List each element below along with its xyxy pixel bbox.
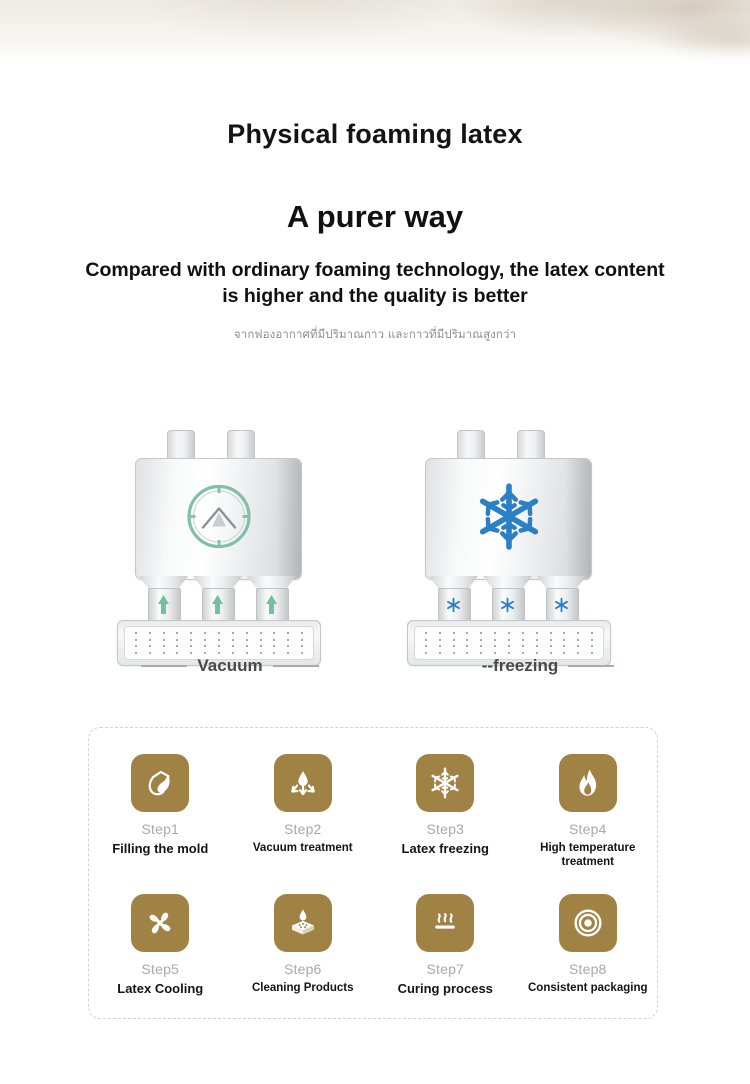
plate-hole [508,639,510,641]
plate-hole [287,632,289,634]
plate-hole [176,645,178,647]
machine-nozzle [537,576,586,624]
step-description-label: Cleaning Products [252,981,354,995]
plate-hole [260,639,262,641]
plate-hole [149,645,151,647]
plate-hole [439,639,441,641]
process-step-step8[interactable]: Step8Consistent packaging [517,894,660,997]
plate-hole [522,645,524,647]
plate-hole [273,632,275,634]
plate-hole [425,632,427,634]
description-block: Compared with ordinary foaming technolog… [0,258,750,309]
plate-hole [522,632,524,634]
step-description-label: High temperature treatment [528,841,648,869]
plate-hole [522,652,524,654]
perforated-plate [124,626,314,660]
plate-hole [190,652,192,654]
step-description-label: Latex Cooling [117,981,203,997]
plate-hole [204,632,206,634]
machine-body [425,458,592,580]
step-description-label: Vacuum treatment [253,841,353,855]
up-arrow-icon [149,589,178,621]
machine-nozzle [193,576,242,624]
plate-hole [439,645,441,647]
plate-hole [149,632,151,634]
plate-hole [218,645,220,647]
plate-hole [577,632,579,634]
plate-hole [260,645,262,647]
droplet-block-icon [286,906,320,940]
plate-hole [577,652,579,654]
plate-hole [536,645,538,647]
plate-hole [301,652,303,654]
nozzle-neck [438,588,471,624]
machine-body-shading [275,459,301,579]
plate-hole [425,652,427,654]
description-text: Compared with ordinary foaming technolog… [75,258,675,309]
plate-hole [246,652,248,654]
vacuum-droplet-icon [286,766,320,800]
plate-hole [218,652,220,654]
top-band-fade [0,46,750,80]
plate-hole [232,645,234,647]
plate-hole [563,645,565,647]
plate-hole [508,632,510,634]
plate-hole [163,645,165,647]
plate-hole [466,645,468,647]
plate-hole [287,652,289,654]
step-number-label: Step7 [426,961,464,977]
plate-hole [163,632,165,634]
perforated-plate [414,626,604,660]
nozzle-neck [546,588,579,624]
plate-hole [563,632,565,634]
step-icon-tile [274,754,332,812]
plate-hole [494,652,496,654]
plate-hole [232,652,234,654]
process-step-step3[interactable]: Step3Latex freezing [374,754,517,869]
plate-hole [246,645,248,647]
step-description-label: Consistent packaging [528,981,648,995]
plate-hole [577,645,579,647]
plate-hole [163,652,165,654]
machine-label-text: --freezing [482,656,559,676]
process-step-step5[interactable]: Step5Latex Cooling [89,894,232,997]
label-rule-left [141,665,187,667]
steps-row: Step1Filling the mold Step2Vacuum treatm… [89,754,659,869]
step-icon-tile [131,894,189,952]
plate-hole [246,632,248,634]
nozzle-neck [492,588,525,624]
up-arrow-icon [203,589,232,621]
plate-hole [260,652,262,654]
nozzle-neck [202,588,235,624]
plate-hole [135,639,137,641]
plate-hole [577,639,579,641]
plate-hole [508,645,510,647]
machine-nozzle [139,576,188,624]
step-icon-tile [416,894,474,952]
plate-hole [135,652,137,654]
plate-hole [466,652,468,654]
plate-hole [550,639,552,641]
nozzle-neck [148,588,181,624]
plate-hole [494,639,496,641]
plate-hole [273,652,275,654]
plate-hole [246,639,248,641]
plate-hole [466,632,468,634]
flame-icon [571,766,605,800]
concentric-circles-icon [571,906,605,940]
plate-hole [591,652,593,654]
plate-hole [190,639,192,641]
step-icon-tile [274,894,332,952]
machine-label-freezing: --freezing [395,656,645,676]
machine-illustration-vacuum: Vacuum [105,424,355,674]
plate-hole [536,639,538,641]
snowflake-icon [493,589,522,621]
plate-hole [204,639,206,641]
gauge-icon [182,480,256,559]
plate-hole [508,652,510,654]
page-subtitle: A purer way [0,198,750,235]
up-arrow-icon [257,589,286,621]
plate-hole [135,632,137,634]
plate-hole [536,632,538,634]
step-number-label: Step8 [569,961,607,977]
machine-nozzle-group [425,576,590,624]
plate-hole [536,652,538,654]
plate-hole [550,632,552,634]
heading-block: Physical foaming latex A purer way [0,118,750,236]
process-step-step7[interactable]: Step7Curing process [374,894,517,997]
fan-icon [143,906,177,940]
step-number-label: Step6 [284,961,322,977]
plate-hole [453,645,455,647]
page-title: Physical foaming latex [0,118,750,150]
process-step-step1[interactable]: Step1Filling the mold [89,754,232,869]
machine-label-text: Vacuum [197,656,262,676]
process-step-step2[interactable]: Step2Vacuum treatment [232,754,375,869]
plate-hole [190,632,192,634]
plate-hole [591,645,593,647]
machine-nozzle [483,576,532,624]
plate-hole [149,652,151,654]
plate-hole [522,639,524,641]
step-number-label: Step1 [141,821,179,837]
nozzle-neck [256,588,289,624]
plate-hole [260,632,262,634]
step-number-label: Step5 [141,961,179,977]
plate-hole [190,645,192,647]
step-description-label: Curing process [398,981,493,997]
plate-hole [453,632,455,634]
plate-hole [563,652,565,654]
plate-hole [563,639,565,641]
plate-hole [232,639,234,641]
step-description-label: Latex freezing [402,841,489,857]
plate-hole [301,639,303,641]
step-description-label: Filling the mold [112,841,208,857]
plate-hole [425,645,427,647]
plate-hole [149,639,151,641]
plate-hole [453,639,455,641]
step-icon-tile [131,754,189,812]
machine-nozzle [247,576,296,624]
step-icon-tile [559,894,617,952]
plate-hole [218,639,220,641]
plate-hole [466,639,468,641]
plate-hole [480,632,482,634]
pouring-mold-icon [143,766,177,800]
plate-hole [218,632,220,634]
plate-hole [176,632,178,634]
plate-hole [287,639,289,641]
plate-hole [480,639,482,641]
plate-hole [204,645,206,647]
plate-hole [163,639,165,641]
plate-hole [439,632,441,634]
machine-nozzle-group [135,576,300,624]
machine-body [135,458,302,580]
step-icon-tile [559,754,617,812]
plate-hole [439,652,441,654]
plate-hole [480,645,482,647]
plate-hole [204,652,206,654]
plate-hole [591,632,593,634]
plate-hole [494,632,496,634]
snowflake-icon [428,766,462,800]
snowflake-icon [473,481,545,558]
step-number-label: Step3 [426,821,464,837]
plate-hole [273,645,275,647]
plate-hole [425,639,427,641]
plate-hole [273,639,275,641]
machine-illustration-freezing: --freezing [395,424,645,674]
label-rule-right [273,665,319,667]
snowflake-icon [547,589,576,621]
plate-hole [176,652,178,654]
plate-hole [301,632,303,634]
plate-hole [176,639,178,641]
step-number-label: Step2 [284,821,322,837]
plate-hole [287,645,289,647]
plate-hole [232,632,234,634]
plate-hole [135,645,137,647]
thai-caption: จากฟองอากาศที่มีปริมาณกาว และกาวที่มีปริ… [0,326,750,344]
steps-row: Step5Latex Cooling Step6Cleaning Product… [89,894,659,997]
plate-hole [453,652,455,654]
process-steps-panel: Step1Filling the mold Step2Vacuum treatm… [88,727,658,1019]
plate-hole [480,652,482,654]
plate-hole [301,645,303,647]
machine-nozzle [429,576,478,624]
process-step-step4[interactable]: Step4High temperature treatment [517,754,660,869]
plate-hole [591,639,593,641]
steam-bar-icon [428,906,462,940]
label-rule-right [568,665,614,667]
machine-body-shading [565,459,591,579]
plate-hole [550,645,552,647]
step-icon-tile [416,754,474,812]
plate-hole [550,652,552,654]
process-step-step6[interactable]: Step6Cleaning Products [232,894,375,997]
plate-hole [494,645,496,647]
step-number-label: Step4 [569,821,607,837]
machine-label-vacuum: Vacuum [105,656,355,676]
snowflake-icon [439,589,468,621]
